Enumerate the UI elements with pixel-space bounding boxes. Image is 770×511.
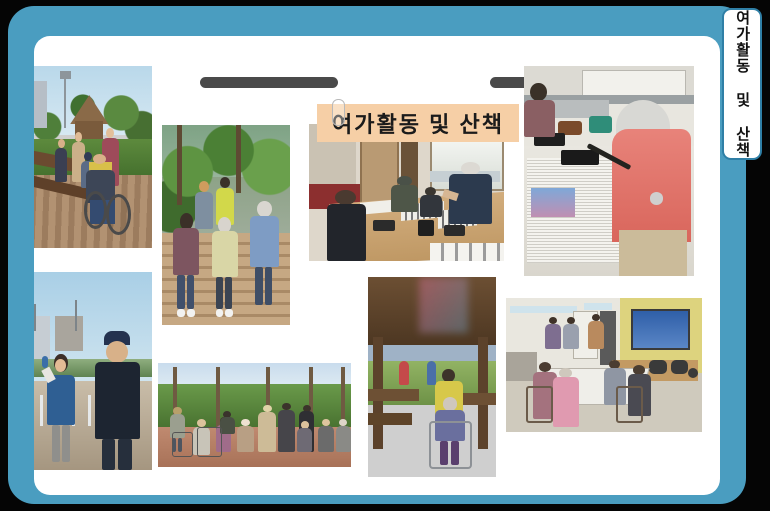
photo-activity-room <box>506 298 702 432</box>
photo-garden-steps <box>162 125 290 325</box>
page-title-text: 여가활동 및 산책 <box>332 107 504 139</box>
photo-park-boardwalk <box>34 66 152 248</box>
slide-root: 여가활동 및 산책 <box>0 0 770 511</box>
photo-pavilion <box>368 277 496 477</box>
slide-content-card: 여가활동 및 산책 <box>34 36 720 495</box>
redaction-bar-left <box>200 77 338 88</box>
section-tab[interactable]: 여가활동 및 산책 <box>722 8 762 160</box>
photo-calligraphy <box>524 66 694 276</box>
photo-indoor-craft-table <box>309 124 504 261</box>
photo-group-path <box>158 363 351 467</box>
section-tab-label: 여가활동 및 산책 <box>734 10 749 158</box>
page-title: 여가활동 및 산책 <box>317 104 519 142</box>
photo-riverside-walk <box>34 272 152 470</box>
paperclip-icon <box>332 99 345 126</box>
